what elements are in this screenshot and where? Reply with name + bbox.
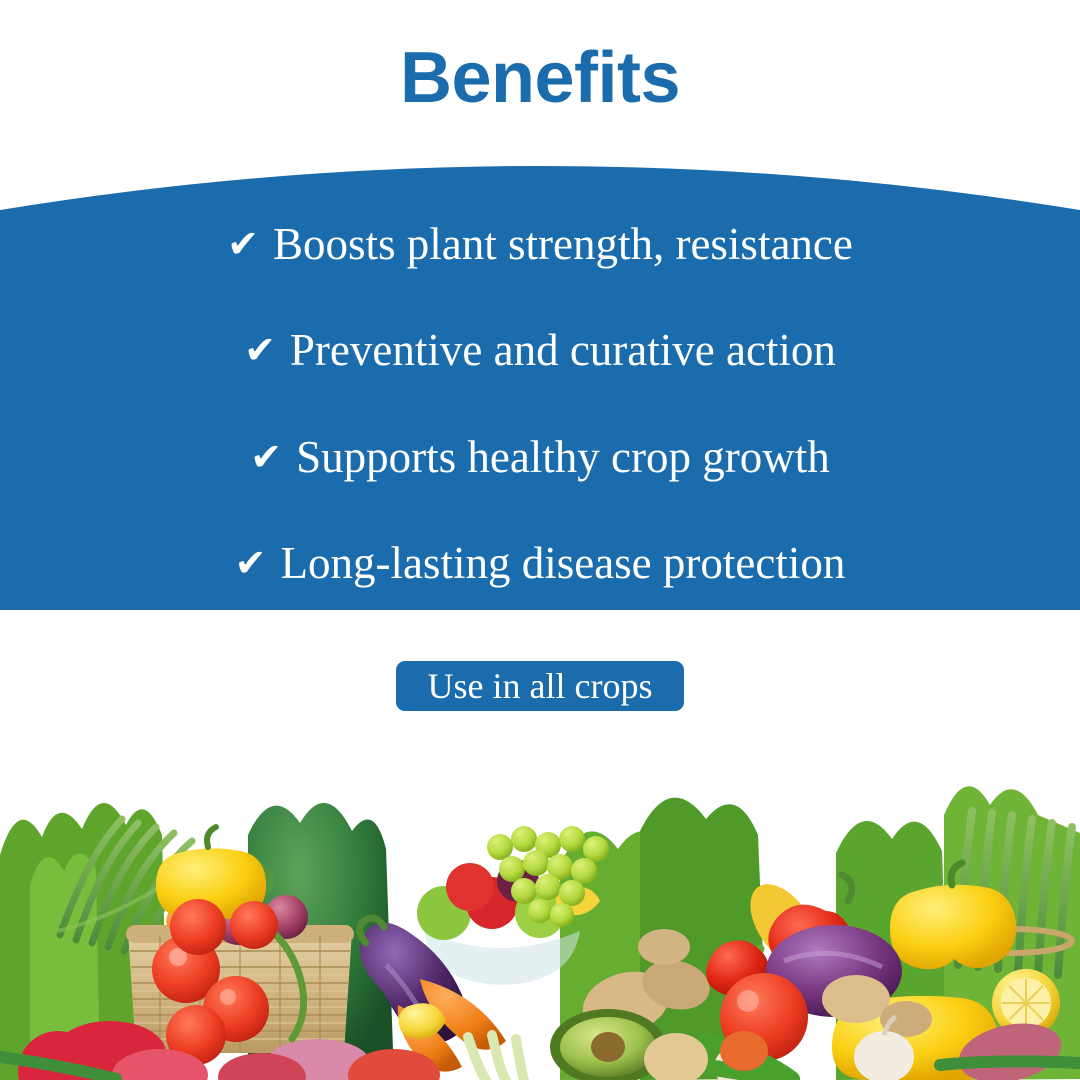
list-item: ✔Boosts plant strength, resistance: [0, 222, 1080, 267]
produce-illustration: [0, 735, 1080, 1080]
list-item: ✔Preventive and curative action: [0, 328, 1080, 373]
produce-image: [0, 735, 1080, 1080]
list-item: ✔Supports healthy crop growth: [0, 435, 1080, 480]
benefits-poster: Benefits ✔Boosts plant strength, resista…: [0, 0, 1080, 1080]
status-badge: Use in all crops: [396, 661, 684, 711]
benefits-panel: ✔Boosts plant strength, resistance ✔Prev…: [0, 140, 1080, 610]
benefits-list: ✔Boosts plant strength, resistance ✔Prev…: [0, 140, 1080, 610]
check-icon: ✔: [244, 331, 276, 369]
list-item-label: Preventive and curative action: [290, 325, 836, 375]
check-icon: ✔: [250, 438, 282, 476]
list-item: ✔Long-lasting disease protection: [0, 541, 1080, 586]
list-item-label: Long-lasting disease protection: [280, 538, 845, 588]
page-title: Benefits: [0, 42, 1080, 114]
list-item-label: Boosts plant strength, resistance: [273, 219, 853, 269]
check-icon: ✔: [235, 544, 267, 582]
list-item-label: Supports healthy crop growth: [296, 432, 830, 482]
check-icon: ✔: [227, 225, 259, 263]
